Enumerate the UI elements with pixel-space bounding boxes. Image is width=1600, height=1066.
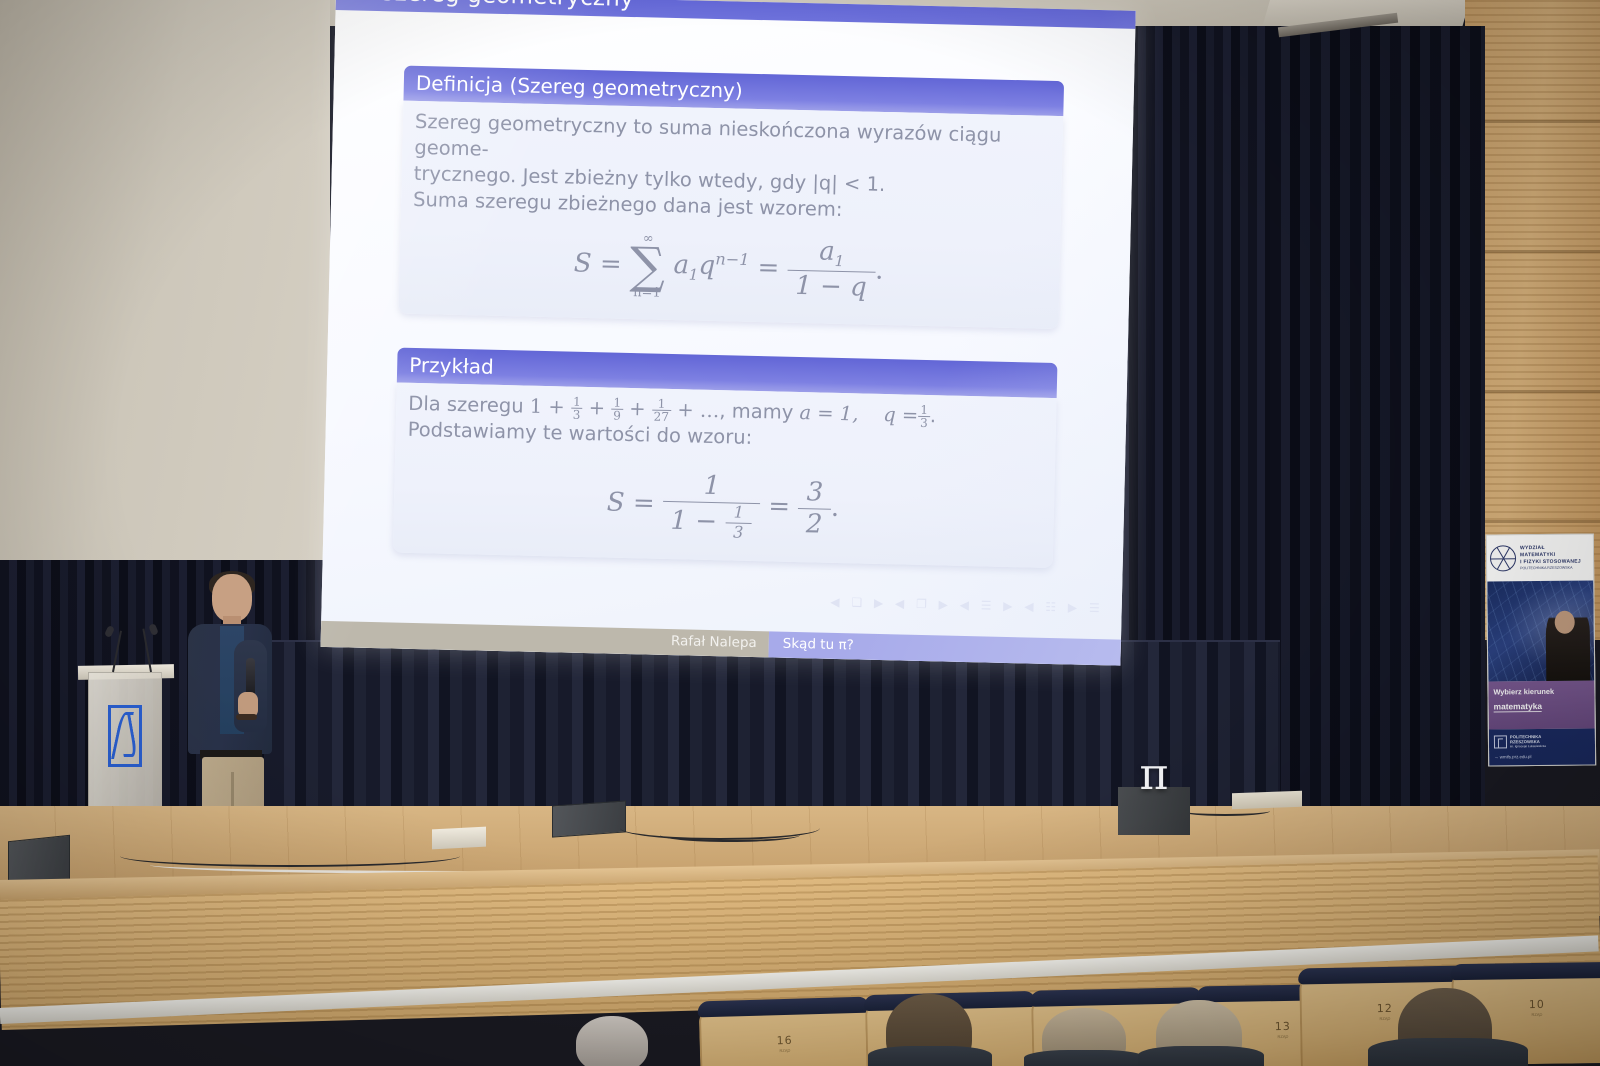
faculty-subline: POLITECHNIKA RZESZOWSKA (1520, 565, 1581, 570)
floor-cable-3 (660, 828, 800, 842)
university-logo-icon (1494, 735, 1507, 748)
seat-13-number: 13 (1275, 1020, 1291, 1033)
banner-header: WYDZIAŁ MATEMATYKI I FIZYKI STOSOWANEJ P… (1487, 534, 1593, 581)
block-przyklad: Przykład Dla szeregu 1 + 13 + 19 + 127 +… (393, 348, 1058, 569)
university-logo: POLITECHNIKA RZESZOWSKA im. Ignacego Łuk… (1494, 733, 1590, 749)
beamer-slide: Szereg geometryczny Definicja (Szereg ge… (321, 0, 1136, 666)
formula-lhs: S (573, 248, 592, 278)
przyklad-formula: S = 1 1 − 13 = 3 2 . (405, 465, 1040, 548)
seat-10-cap (1450, 962, 1600, 980)
audience-body-2 (868, 1046, 992, 1066)
seat-16-sublabel: RZĄD (779, 1048, 790, 1053)
block-definicja: Definicja (Szereg geometryczny) Szereg g… (398, 66, 1064, 330)
projection-screen: Szereg geometryczny Definicja (Szereg ge… (321, 0, 1136, 666)
beamer-navigation-symbols[interactable]: ◀ ❏ ▶ ◀ ❐ ▶ ◀ ☰ ▶ ◀ ☷ ▶ ☰ (830, 595, 1104, 615)
floor-box-right (1232, 791, 1302, 809)
summation-operator: ∞ ∑ n=1 (629, 232, 666, 300)
banner-photo (1487, 580, 1594, 681)
stage-monitor-speaker-center (552, 800, 626, 837)
audience-body-3 (1024, 1050, 1146, 1066)
rollup-banner: WYDZIAŁ MATEMATYKI I FIZYKI STOSOWANEJ P… (1486, 533, 1596, 766)
floor-cable-cover (432, 827, 486, 850)
banner-url: → wmifs.prz.edu.pl (1494, 753, 1590, 759)
przyklad-result-fraction: 3 2 (798, 478, 832, 540)
seat-16-cap (697, 997, 869, 1018)
banner-faculty-text: WYDZIAŁ MATEMATYKI I FIZYKI STOSOWANEJ P… (1520, 545, 1581, 571)
audience-body-5 (1368, 1038, 1528, 1066)
seat-13-sublabel: RZĄD (1277, 1034, 1288, 1039)
lecture-hall-scene: Szereg geometryczny Definicja (Szereg ge… (0, 0, 1600, 1066)
definicja-formula: S = ∞ ∑ n=1 a1qn−1 = a1 1 − q . (411, 227, 1046, 309)
banner-cta-line-1: Wybierz kierunek (1493, 686, 1589, 696)
seat-12-cap (1298, 965, 1470, 984)
block-definicja-body: Szereg geometryczny to suma nieskończona… (398, 101, 1063, 330)
audience-head-1 (576, 1016, 648, 1066)
banner-photo-person (1546, 604, 1591, 680)
prz-logo-icon (108, 705, 142, 767)
przyklad-main-fraction: 1 1 − 13 (662, 471, 761, 541)
audience-body-4 (1138, 1046, 1264, 1066)
stage-curtain-right (1270, 26, 1485, 826)
seat-10-number: 10 (1529, 998, 1545, 1011)
seat-12-sublabel: RZĄD (1379, 1016, 1390, 1021)
block-przyklad-body: Dla szeregu 1 + 13 + 19 + 127 + …, mamy … (393, 383, 1057, 569)
university-logo-text: POLITECHNIKA RZESZOWSKA im. Ignacego Łuk… (1510, 734, 1546, 749)
banner-footer: POLITECHNIKA RZESZOWSKA im. Ignacego Łuk… (1489, 728, 1596, 766)
seat-16: 16 RZĄD (699, 1006, 870, 1066)
pi-sculpture-icon: π (1133, 758, 1175, 792)
presenter-wristwatch (236, 714, 257, 720)
summand: a1qn−1 (673, 250, 750, 282)
seat-16-number: 16 (776, 1034, 792, 1047)
banner-cta: Wybierz kierunek matematyka (1488, 680, 1594, 729)
faculty-emblem-icon (1490, 545, 1516, 571)
presenter-head (212, 574, 252, 622)
formula-result-fraction: a1 1 − q (787, 237, 876, 303)
seat-10-sublabel: RZĄD (1531, 1012, 1542, 1017)
banner-cta-line-2: matematyka (1494, 701, 1543, 713)
university-subtitle: im. Ignacego Łukasiewicza (1510, 745, 1546, 749)
seat-12-number: 12 (1377, 1002, 1393, 1015)
